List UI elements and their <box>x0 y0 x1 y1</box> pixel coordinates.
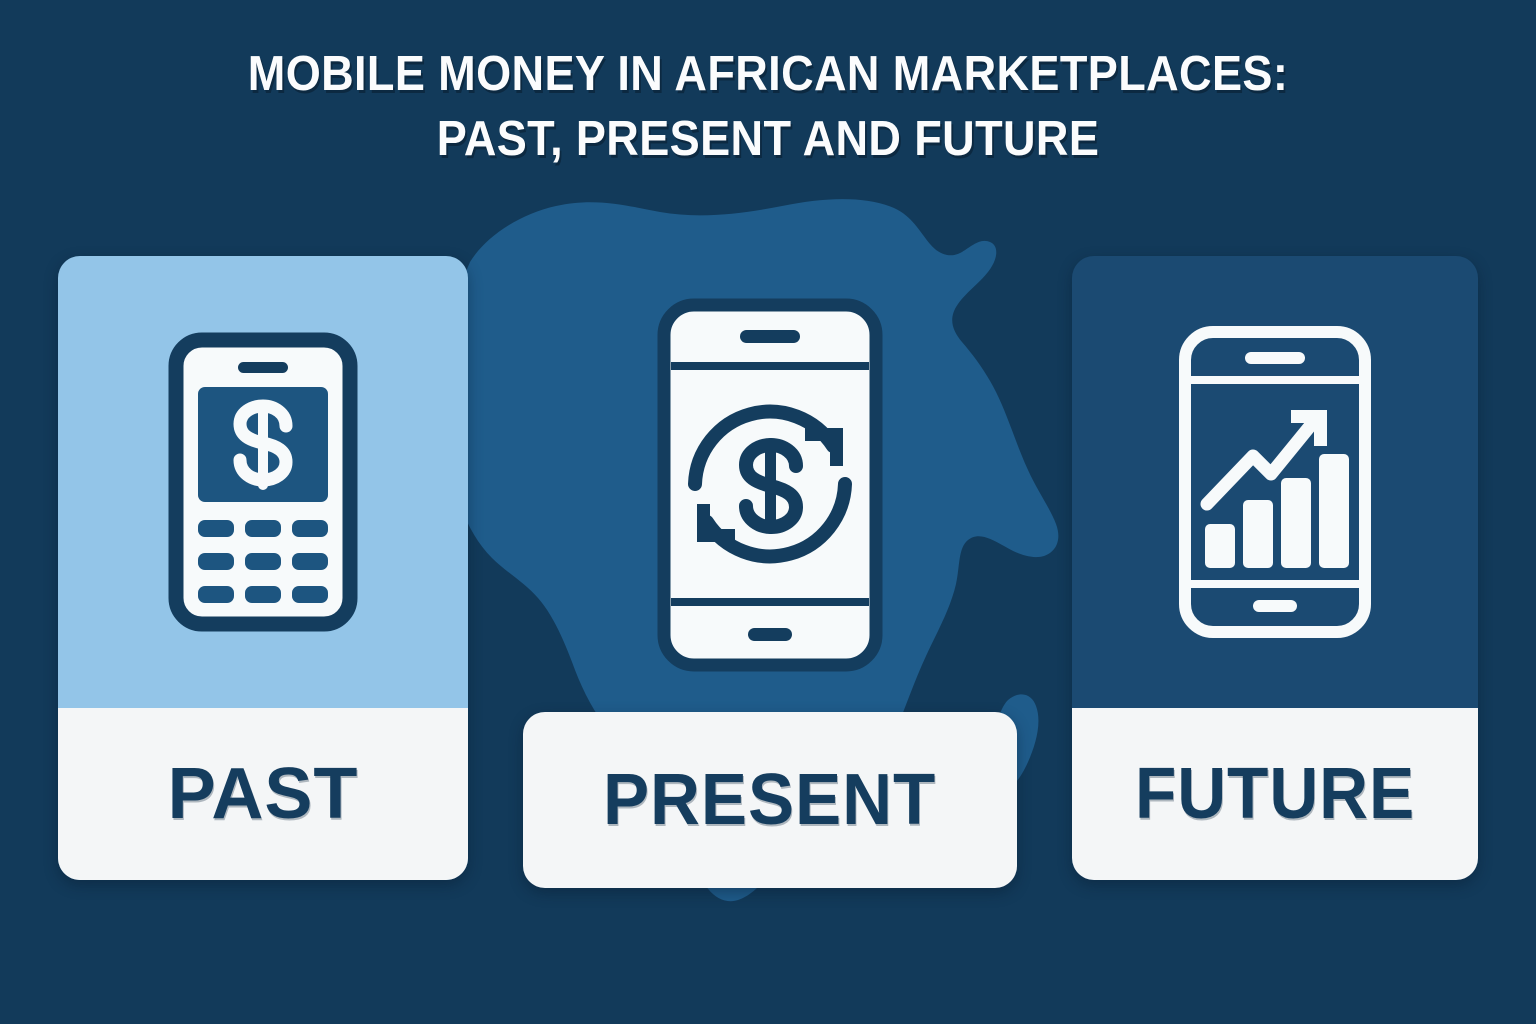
title-line-2: PAST, PRESENT AND FUTURE <box>61 107 1474 172</box>
smartphone-money-transfer-icon <box>655 296 885 674</box>
card-present-icon-zone[interactable] <box>655 296 885 674</box>
card-future-label-plate: FUTURE <box>1072 708 1478 880</box>
card-future-icon-zone <box>1072 256 1478 708</box>
feature-phone-dollar-icon <box>168 332 358 632</box>
page-title: MOBILE MONEY IN AFRICAN MARKETPLACES: PA… <box>0 42 1536 171</box>
card-present-label: PRESENT <box>603 764 936 836</box>
card-past-label: PAST <box>168 758 359 830</box>
card-past-label-plate: PAST <box>58 708 468 880</box>
card-present-label-plate[interactable]: PRESENT <box>523 712 1017 888</box>
card-future-label: FUTURE <box>1135 758 1415 830</box>
keypad-grid <box>198 520 328 603</box>
infographic-canvas: MOBILE MONEY IN AFRICAN MARKETPLACES: PA… <box>0 0 1536 1024</box>
card-future[interactable]: FUTURE <box>1072 256 1478 880</box>
dollar-sign-glyph <box>746 438 796 534</box>
card-past-icon-zone <box>58 256 468 708</box>
card-past[interactable]: PAST <box>58 256 468 880</box>
smartphone-growth-chart-icon <box>1175 322 1375 642</box>
title-line-1: MOBILE MONEY IN AFRICAN MARKETPLACES: <box>61 42 1474 107</box>
